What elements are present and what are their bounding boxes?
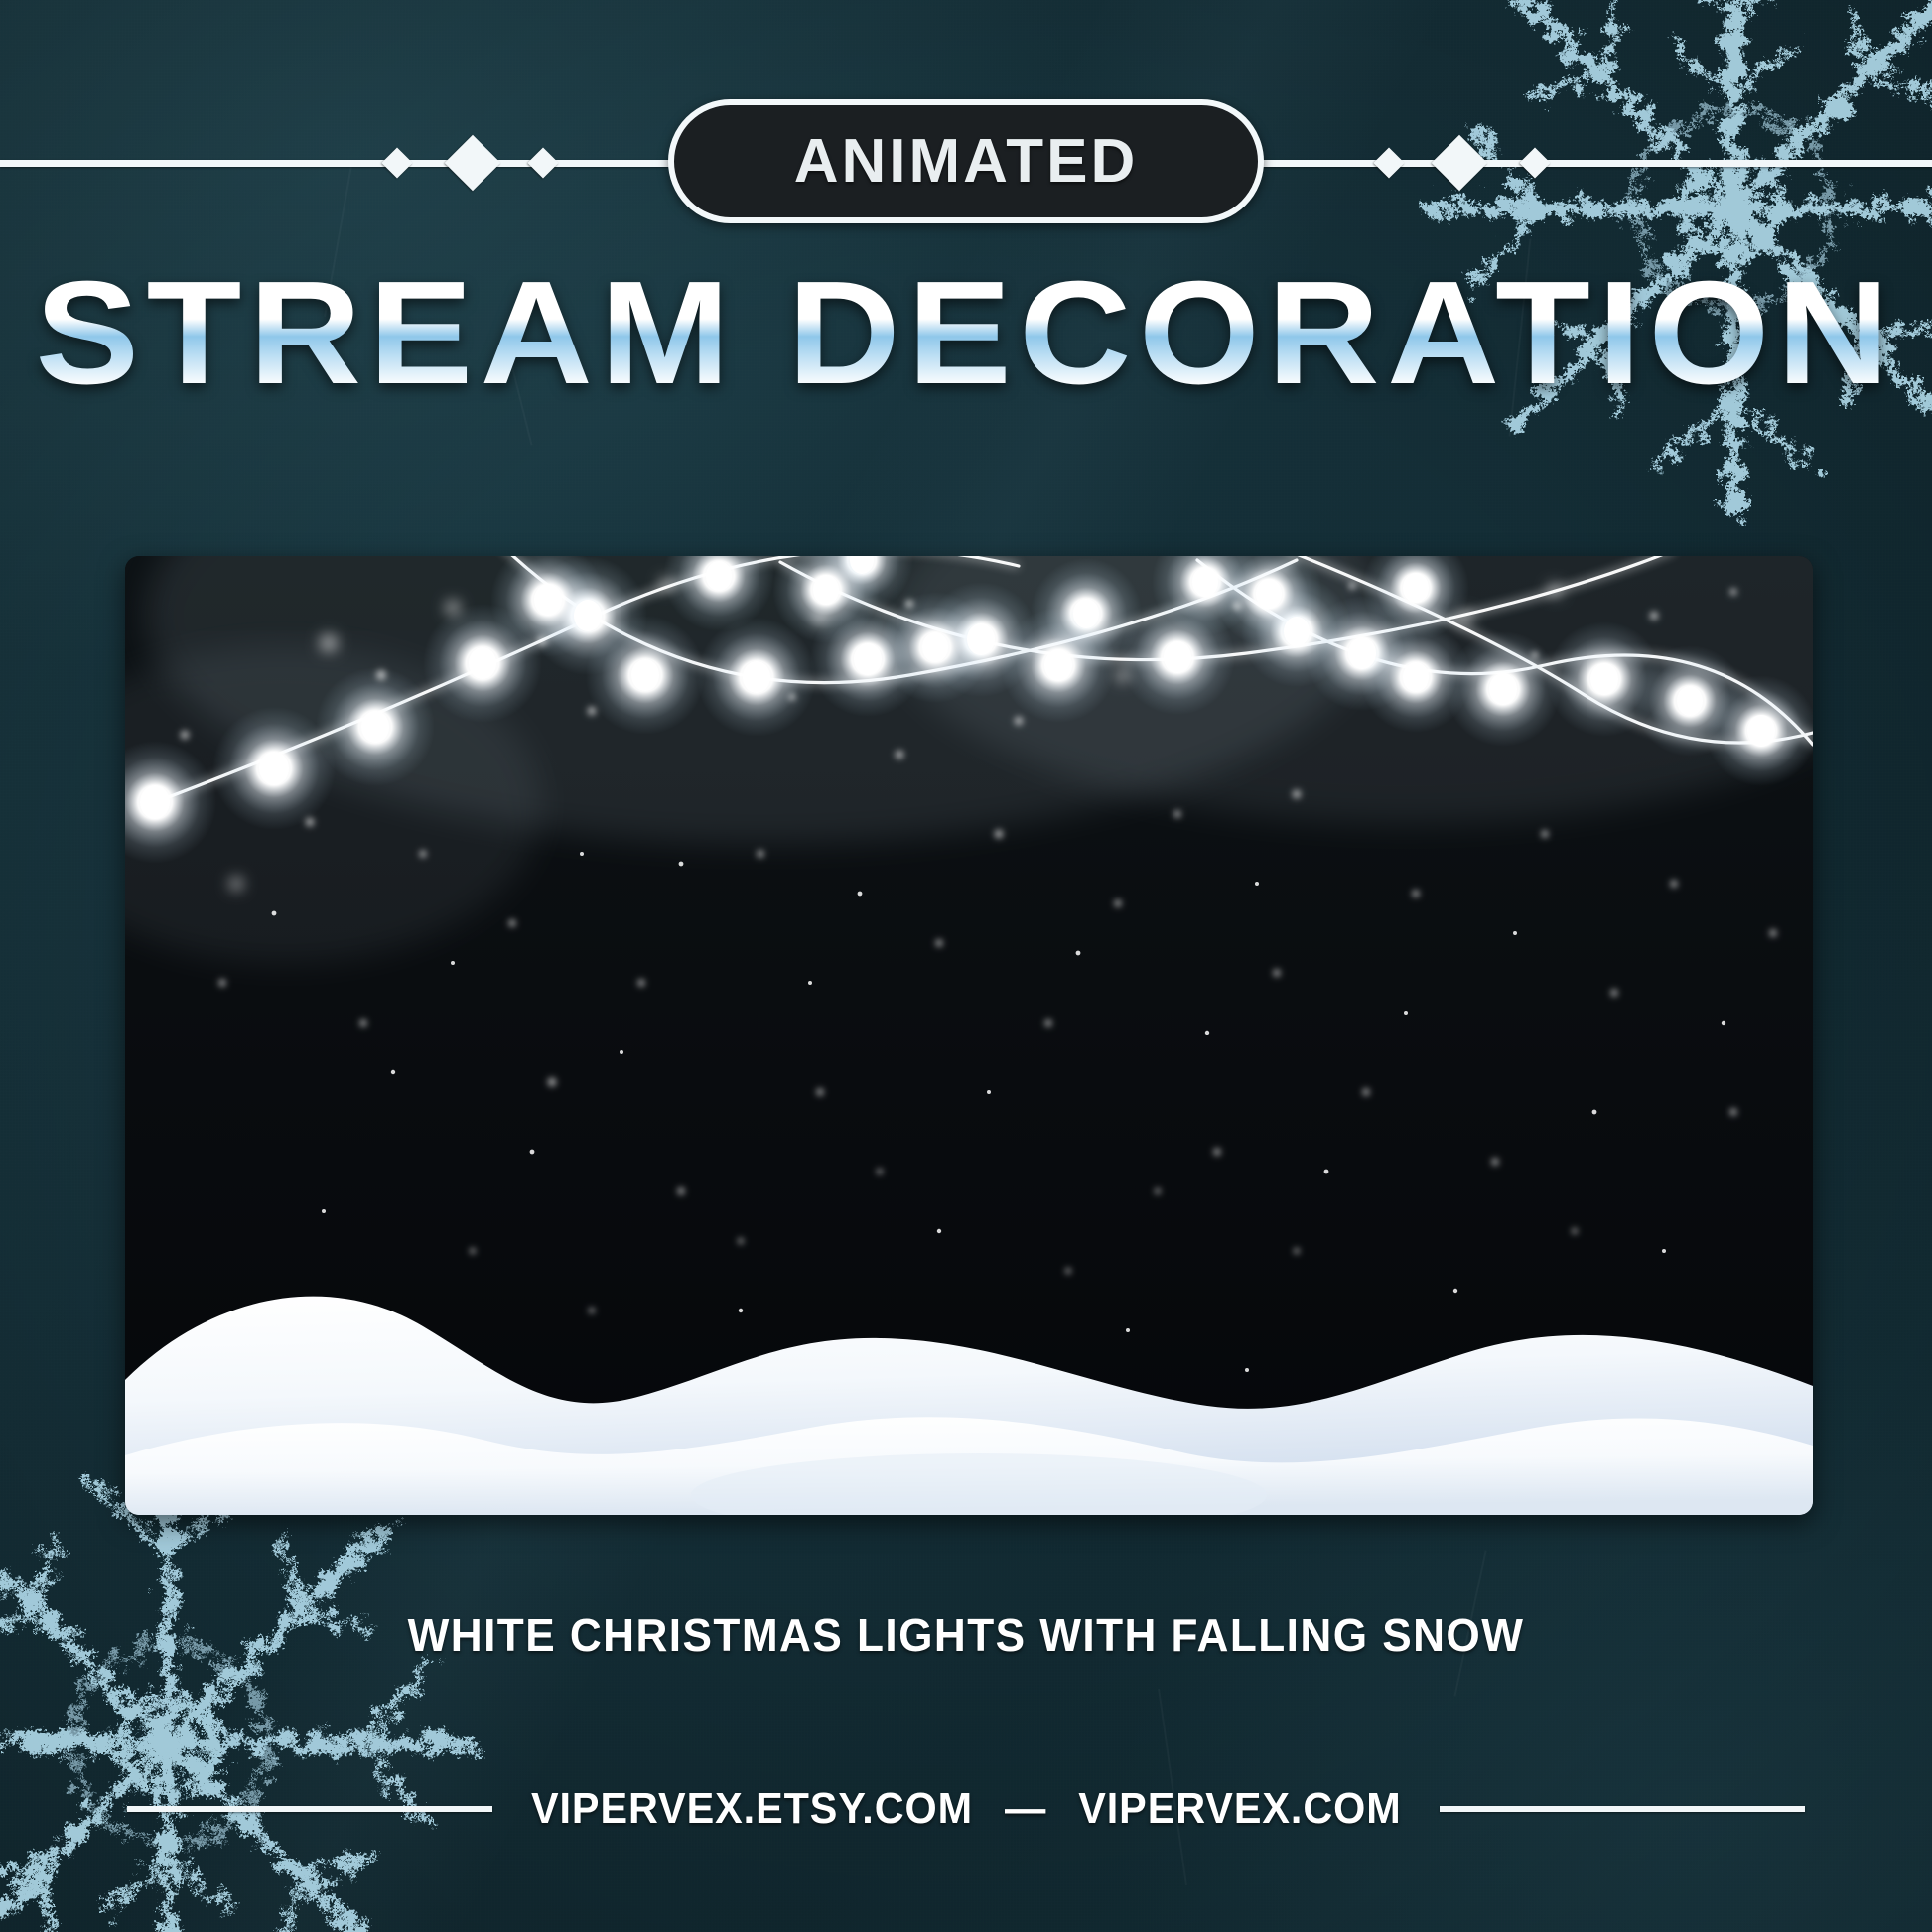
divider-diamond-icon xyxy=(381,147,412,178)
website-link[interactable]: VIPERVEX.COM xyxy=(1078,1784,1401,1834)
animated-badge-label: ANIMATED xyxy=(794,126,1139,197)
footer: VIPERVEX.ETSY.COM — VIPERVEX.COM xyxy=(0,1769,1932,1849)
divider-line-right xyxy=(1247,160,1932,167)
footer-separator: — xyxy=(1005,1784,1046,1834)
etsy-shop-link[interactable]: VIPERVEX.ETSY.COM xyxy=(531,1784,973,1834)
divider-diamond-icon xyxy=(445,135,501,192)
animated-badge: ANIMATED xyxy=(668,99,1264,223)
footer-line-left xyxy=(127,1806,492,1812)
footer-line-right xyxy=(1440,1806,1805,1812)
poster-canvas: ANIMATED STREAM DECORATION xyxy=(0,0,1932,1932)
page-title: STREAM DECORATION xyxy=(0,260,1932,407)
stream-overlay-preview[interactable] xyxy=(125,556,1813,1515)
footer-links: VIPERVEX.ETSY.COM — VIPERVEX.COM xyxy=(531,1784,1402,1834)
divider-diamond-icon xyxy=(1519,147,1550,178)
divider-diamond-icon xyxy=(1432,135,1488,192)
preview-caption: WHITE CHRISTMAS LIGHTS WITH FALLING SNOW xyxy=(39,1608,1893,1662)
divider-line-left xyxy=(0,160,685,167)
divider-diamond-icon xyxy=(1373,147,1404,178)
divider-diamond-icon xyxy=(527,147,558,178)
